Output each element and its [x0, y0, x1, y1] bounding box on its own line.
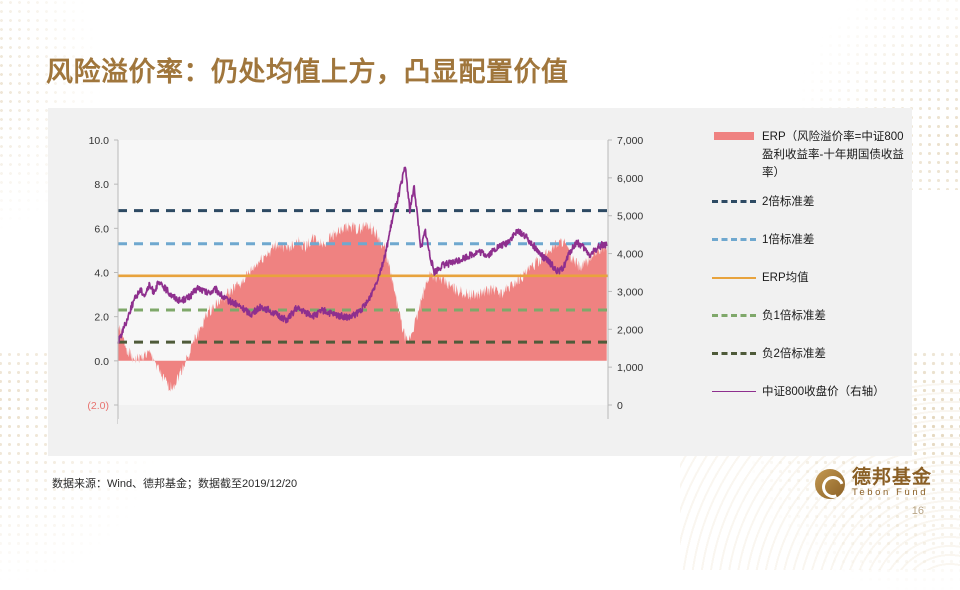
- legend-swatch-erp-mean-icon: [712, 270, 756, 286]
- y-axis-right-tick: 7,000: [617, 135, 643, 147]
- chart-plot-area: %10.08.06.04.02.00.0(2.0)7,0006,0005,000…: [48, 108, 688, 456]
- legend-label-plus-2-sd: 2倍标准差: [762, 194, 814, 210]
- y-axis-right-tick: 5,000: [617, 211, 643, 223]
- legend-label-csi800-close: 中证800收盘价（右轴）: [762, 384, 885, 400]
- page-number: 16: [912, 505, 924, 517]
- legend-item-erp-mean[interactable]: ERP均值: [712, 270, 918, 286]
- chart-panel: %10.08.06.04.02.00.0(2.0)7,0006,0005,000…: [48, 108, 912, 456]
- legend-label-erp-mean: ERP均值: [762, 270, 809, 286]
- y-axis-left-tick: 8.0: [94, 179, 109, 191]
- y-axis-left-tick: 6.0: [94, 223, 109, 235]
- y-axis-right-tick: 2,000: [617, 324, 643, 336]
- legend-item-minus-2-sd[interactable]: 负2倍标准差: [712, 346, 918, 362]
- y-axis-right-tick: 6,000: [617, 173, 643, 185]
- legend-label-plus-1-sd: 1倍标准差: [762, 232, 814, 248]
- y-axis-right-tick: 3,000: [617, 286, 643, 298]
- erp-chart: %10.08.06.04.02.00.0(2.0)7,0006,0005,000…: [48, 108, 688, 456]
- legend-swatch-plus-2-sd-icon: [712, 194, 756, 210]
- tebon-logo-icon: [815, 469, 845, 499]
- legend-swatch-minus-1-sd-icon: [712, 308, 756, 324]
- legend-label-minus-2-sd: 负2倍标准差: [762, 346, 826, 362]
- page-title: 风险溢价率：仍处均值上方，凸显配置价值: [46, 50, 569, 89]
- legend-label-minus-1-sd: 负1倍标准差: [762, 308, 826, 324]
- legend-swatch-minus-2-sd-icon: [712, 346, 756, 362]
- y-axis-right-tick: 4,000: [617, 249, 643, 261]
- y-axis-right-tick: 1,000: [617, 362, 643, 374]
- legend-item-plus-1-sd[interactable]: 1倍标准差: [712, 232, 918, 248]
- y-axis-right-tick: 0: [617, 400, 623, 412]
- chart-legend: ERP（风险溢价率=中证800盈利收益率-十年期国债收益率）2倍标准差1倍标准差…: [688, 108, 912, 456]
- legend-swatch-plus-1-sd-icon: [712, 232, 756, 248]
- y-axis-left-tick: (2.0): [87, 400, 109, 412]
- legend-swatch-erp-icon: [712, 128, 756, 144]
- brand-logo: 德邦基金 Tebon Fund: [815, 468, 932, 499]
- legend-item-csi800-close[interactable]: 中证800收盘价（右轴）: [712, 384, 918, 400]
- y-axis-left-tick: 0.0: [94, 356, 109, 368]
- y-axis-left-tick: 10.0: [89, 135, 110, 147]
- brand-name-en: Tebon Fund: [852, 487, 932, 499]
- legend-item-erp[interactable]: ERP（风险溢价率=中证800盈利收益率-十年期国债收益率）: [712, 128, 918, 182]
- legend-swatch-csi800-close-icon: [712, 384, 756, 400]
- legend-item-plus-2-sd[interactable]: 2倍标准差: [712, 194, 918, 210]
- y-axis-left-tick: 4.0: [94, 268, 109, 280]
- brand-name-cn: 德邦基金: [852, 468, 932, 487]
- y-axis-left-tick: 2.0: [94, 312, 109, 324]
- source-note: 数据来源：Wind、德邦基金；数据截至2019/12/20: [52, 475, 297, 491]
- legend-item-minus-1-sd[interactable]: 负1倍标准差: [712, 308, 918, 324]
- legend-label-erp: ERP（风险溢价率=中证800盈利收益率-十年期国债收益率）: [762, 128, 914, 182]
